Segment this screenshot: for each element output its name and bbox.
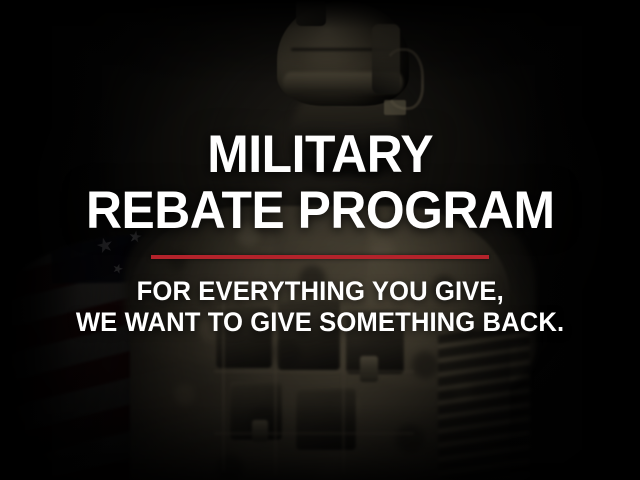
poster-content: MILITARY REBATE PROGRAM FOR EVERYTHING Y… — [0, 0, 640, 480]
red-divider-rule — [151, 255, 489, 259]
page-title-line-1: MILITARY — [207, 127, 433, 183]
tagline-line-1: FOR EVERYTHING YOU GIVE, — [136, 276, 503, 307]
military-rebate-poster: ★★★★★ — [0, 0, 640, 480]
page-title-line-2: REBATE PROGRAM — [86, 183, 555, 239]
tagline-line-2: WE WANT TO GIVE SOMETHING BACK. — [76, 307, 564, 338]
